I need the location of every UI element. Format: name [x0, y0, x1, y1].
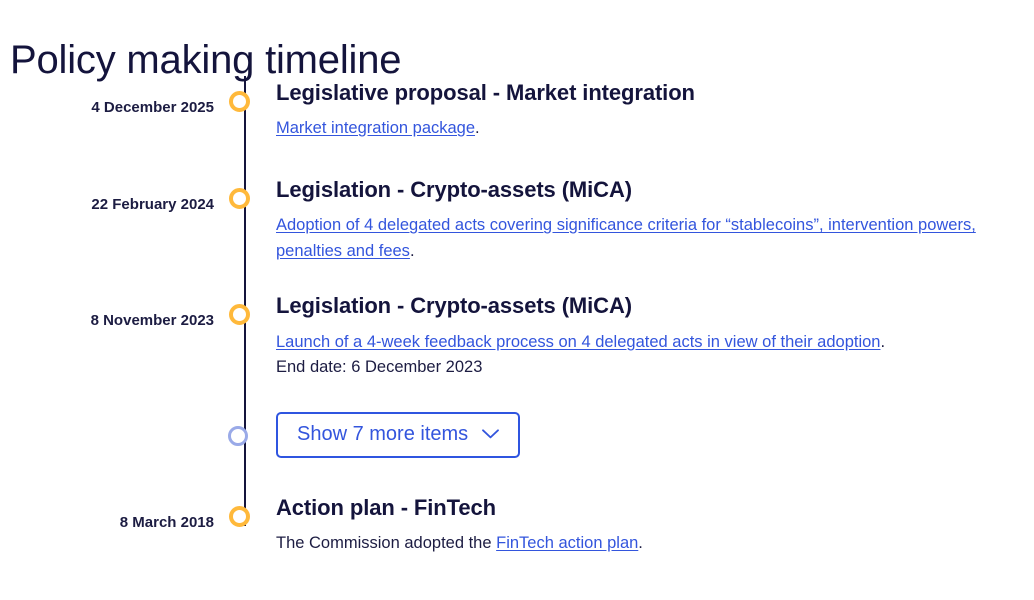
- timeline-item-date: 8 March 2018: [0, 515, 214, 530]
- timeline-marker-icon: [229, 91, 250, 112]
- chevron-down-icon: [482, 429, 499, 439]
- timeline-item-date: 22 February 2024: [0, 197, 214, 212]
- timeline-show-more-row: Show 7 more items: [0, 412, 1034, 458]
- timeline-item-link[interactable]: FinTech action plan: [496, 534, 638, 552]
- timeline-marker-icon: [229, 188, 250, 209]
- timeline-item: 4 December 2025 Legislative proposal - M…: [0, 100, 1034, 142]
- timeline-marker-cell: [214, 100, 276, 101]
- show-more-items-label: Show 7 more items: [297, 423, 468, 446]
- timeline-item-title: Legislation - Crypto-assets (MiCA): [276, 293, 1004, 319]
- timeline-marker-collapsed-icon: [228, 426, 248, 446]
- timeline-item-date: 4 December 2025: [0, 100, 214, 115]
- timeline-item-end-date: End date: 6 December 2023: [276, 355, 1004, 381]
- timeline-item-trailing: .: [638, 534, 643, 552]
- timeline-item-link[interactable]: Adoption of 4 delegated acts covering si…: [276, 216, 976, 260]
- timeline-marker-cell: [214, 197, 276, 198]
- timeline-item-trailing: .: [410, 242, 415, 260]
- timeline-item-content: Legislation - Crypto-assets (MiCA) Adopt…: [276, 177, 1034, 265]
- policy-timeline-page: Policy making timeline 4 December 2025 L…: [0, 0, 1034, 600]
- timeline-item-content: Legislative proposal - Market integratio…: [276, 80, 1034, 142]
- timeline-item-description: Launch of a 4-week feedback process on 4…: [276, 330, 988, 356]
- timeline-item-description: Adoption of 4 delegated acts covering si…: [276, 213, 988, 264]
- timeline-item: 8 March 2018 Action plan - FinTech The C…: [0, 515, 1034, 557]
- timeline-item-title: Action plan - FinTech: [276, 495, 1004, 521]
- timeline-marker-icon: [229, 304, 250, 325]
- timeline-item: 8 November 2023 Legislation - Crypto-ass…: [0, 313, 1034, 381]
- timeline-item-content: Action plan - FinTech The Commission ado…: [276, 495, 1034, 557]
- timeline-item-trailing: .: [880, 333, 885, 351]
- timeline-item-link[interactable]: Launch of a 4-week feedback process on 4…: [276, 333, 880, 351]
- show-more-items-button[interactable]: Show 7 more items: [276, 412, 520, 458]
- timeline-marker-icon: [229, 506, 250, 527]
- timeline-item-content: Legislation - Crypto-assets (MiCA) Launc…: [276, 293, 1034, 381]
- timeline-marker-cell: [214, 313, 276, 314]
- timeline-item-description: Market integration package.: [276, 116, 988, 142]
- timeline-item-link[interactable]: Market integration package: [276, 119, 475, 137]
- timeline-item-title: Legislative proposal - Market integratio…: [276, 80, 1004, 106]
- timeline-item-description: The Commission adopted the FinTech actio…: [276, 531, 988, 557]
- timeline-item-trailing: .: [475, 119, 480, 137]
- timeline: 4 December 2025 Legislative proposal - M…: [0, 70, 1034, 557]
- timeline-item: 22 February 2024 Legislation - Crypto-as…: [0, 197, 1034, 265]
- timeline-item-title: Legislation - Crypto-assets (MiCA): [276, 177, 1004, 203]
- timeline-marker-cell: [214, 515, 276, 516]
- timeline-item-lead-text: The Commission adopted the: [276, 534, 496, 552]
- timeline-show-more-container: Show 7 more items: [276, 412, 520, 458]
- timeline-item-date: 8 November 2023: [0, 313, 214, 328]
